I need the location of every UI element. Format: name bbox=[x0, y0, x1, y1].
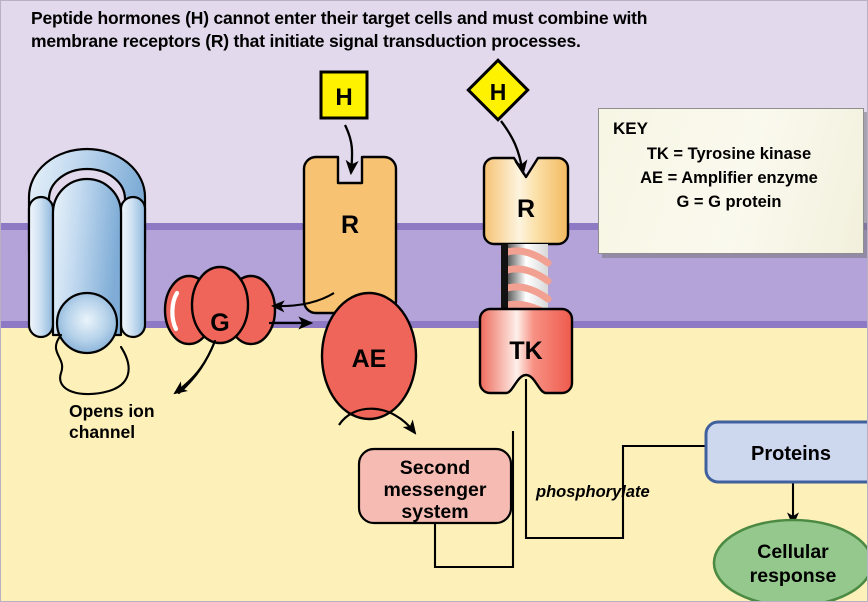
key-entry-ae: AE = Amplifier enzyme bbox=[613, 167, 851, 191]
cellular-response-line-1: Cellular bbox=[757, 541, 829, 563]
tyrosine-kinase-label: TK bbox=[509, 337, 542, 365]
second-messenger-box: Second messenger system bbox=[359, 449, 511, 523]
diagram-canvas: G R AE R bbox=[0, 0, 868, 602]
ion-channel-ball bbox=[57, 293, 117, 353]
helix-connector-edge bbox=[501, 244, 508, 317]
key-entry-g: G = G protein bbox=[613, 191, 851, 215]
diagram-svg: G R AE R bbox=[1, 1, 868, 602]
phosphorylate-label: phosphorylate bbox=[536, 483, 650, 502]
second-messenger-line-1: Second bbox=[400, 457, 470, 479]
caption-line-1: Peptide hormones (H) cannot enter their … bbox=[31, 7, 831, 30]
cellular-response-line-2: response bbox=[750, 565, 837, 587]
caption-line-2: membrane receptors (R) that initiate sig… bbox=[31, 30, 831, 53]
ion-channel-pillar-left bbox=[29, 197, 53, 337]
opens-ion-channel-line-2: channel bbox=[69, 422, 155, 443]
g-protein-label: G bbox=[210, 309, 229, 337]
amplifier-enzyme-label: AE bbox=[352, 345, 387, 373]
hormone-square: H bbox=[321, 72, 367, 118]
diagram-caption: Peptide hormones (H) cannot enter their … bbox=[31, 7, 831, 54]
receptor-left-label: R bbox=[341, 211, 359, 239]
key-entry-tk: TK = Tyrosine kinase bbox=[613, 143, 851, 167]
key-box: KEY TK = Tyrosine kinase AE = Amplifier … bbox=[598, 108, 864, 254]
hormone-diamond-label: H bbox=[490, 79, 507, 105]
second-messenger-line-3: system bbox=[401, 501, 468, 523]
amplifier-enzyme: AE bbox=[322, 293, 416, 419]
second-messenger-line-2: messenger bbox=[384, 479, 487, 501]
receptor-right-label: R bbox=[517, 195, 535, 223]
proteins-box: Proteins bbox=[706, 422, 868, 482]
key-box-title: KEY bbox=[613, 119, 851, 139]
ion-channel-pillar-right bbox=[121, 197, 145, 337]
cellular-response-ellipse: Cellular response bbox=[714, 520, 868, 602]
opens-ion-channel-line-1: Opens ion bbox=[69, 401, 155, 422]
proteins-label: Proteins bbox=[751, 443, 831, 465]
opens-ion-channel-label: Opens ion channel bbox=[69, 401, 155, 443]
hormone-square-label: H bbox=[335, 84, 352, 111]
